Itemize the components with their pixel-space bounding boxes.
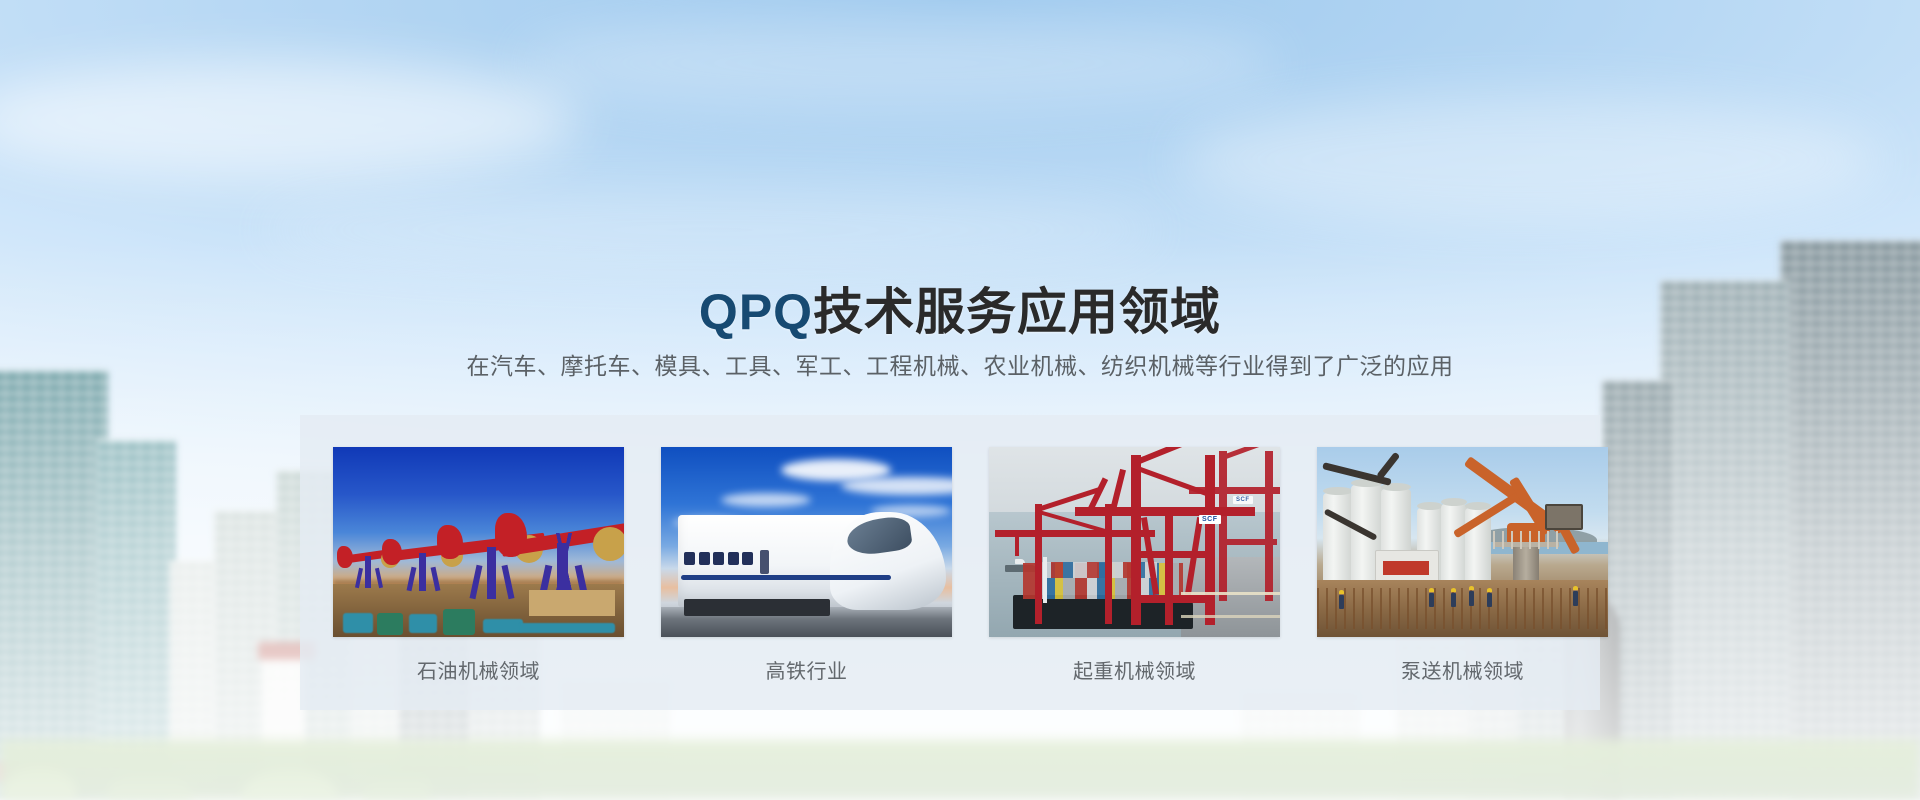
derrick-tower (547, 533, 581, 591)
train-door (760, 550, 769, 574)
application-card[interactable]: SCF SCF 起重机械领域 (989, 447, 1280, 667)
wellhead-equipment (483, 619, 523, 633)
wellhead-equipment (443, 609, 475, 635)
cloud (841, 477, 952, 495)
train-stripe (681, 575, 891, 580)
page-title: QPQ技术服务应用领域 (0, 272, 1920, 344)
worker (1429, 593, 1434, 607)
train-window (728, 552, 739, 565)
gantry-crane (1189, 451, 1280, 601)
worker (1573, 591, 1578, 606)
oil-scene (333, 447, 624, 637)
train-window (742, 552, 753, 565)
oil-pumpjacks-photo[interactable] (333, 447, 624, 637)
pump-scene (1317, 447, 1608, 637)
pump-railing (1493, 531, 1559, 549)
port-scene: SCF SCF (989, 447, 1280, 637)
wellhead-equipment (343, 613, 373, 633)
site-banner (1383, 561, 1429, 575)
train-window (713, 552, 724, 565)
worker (1487, 593, 1492, 607)
high-speed-train-photo[interactable] (661, 447, 952, 637)
pipeline (519, 623, 615, 633)
card-caption: 石油机械领域 (333, 655, 624, 684)
applications-panel: 石油机械领域 (300, 415, 1600, 710)
page-subtitle: 在汽车、摩托车、模具、工具、军工、工程机械、农业机械、纺织机械等行业得到了广泛的… (0, 347, 1920, 381)
rebar-grid (1317, 588, 1608, 630)
card-caption: 高铁行业 (661, 655, 952, 684)
train-window (684, 552, 695, 565)
worker (1339, 595, 1344, 609)
hero-banner: QPQ技术服务应用领域 在汽车、摩托车、模具、工具、军工、工程机械、农业机械、纺… (0, 0, 1920, 800)
pump-boom-arm (1376, 451, 1400, 479)
train-scene (661, 447, 952, 637)
card-caption: 泵送机械领域 (1317, 655, 1608, 684)
train-undercarriage (684, 599, 830, 616)
scf-logo-badge: SCF (1233, 496, 1253, 504)
port-gantry-crane-photo[interactable]: SCF SCF (989, 447, 1280, 637)
cloud-wisp (1180, 95, 1880, 225)
application-card-list: 石油机械领域 (333, 447, 1569, 667)
dock-edge (1181, 592, 1280, 595)
application-card[interactable]: 石油机械领域 (333, 447, 624, 667)
card-caption: 起重机械领域 (989, 655, 1280, 684)
worker-helmet (1339, 590, 1344, 594)
worker-helmet (1469, 586, 1474, 590)
worker-helmet (1573, 586, 1578, 590)
application-card[interactable]: 泵送机械领域 (1317, 447, 1608, 667)
concrete-base (529, 590, 615, 616)
train-window (699, 552, 710, 565)
wellhead-equipment (377, 613, 403, 635)
concrete-pump-photo[interactable] (1317, 447, 1608, 637)
worker-helmet (1487, 588, 1492, 592)
worker (1451, 593, 1456, 607)
page-title-latin: QPQ (699, 284, 813, 340)
control-box (1545, 504, 1583, 530)
dock-edge (1181, 615, 1280, 618)
wellhead-equipment (409, 614, 437, 633)
cloud-wisp (520, 18, 1280, 108)
application-card[interactable]: 高铁行业 (661, 447, 952, 667)
worker-helmet (1429, 588, 1434, 592)
cloud (721, 493, 811, 507)
scf-logo-badge: SCF (1199, 515, 1221, 524)
worker-helmet (1451, 588, 1456, 592)
worker (1469, 591, 1474, 606)
page-title-cn: 技术服务应用领域 (813, 284, 1221, 340)
